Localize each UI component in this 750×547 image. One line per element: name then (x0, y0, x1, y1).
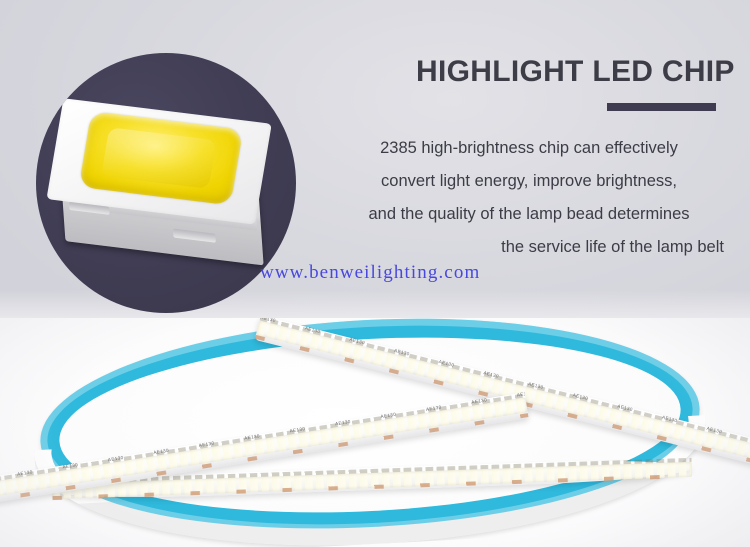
body-copy: 2385 high-brightness chip can effectivel… (334, 132, 724, 264)
body-line-1: 2385 high-brightness chip can effectivel… (334, 132, 724, 165)
page-title: HIGHLIGHT LED CHIP (416, 55, 736, 88)
led-strip-photo: AE130AE130AE130AE130AE130AE130AE130AE130… (0, 318, 750, 547)
body-line-3: and the quality of the lamp bead determi… (334, 198, 724, 231)
accent-rule (607, 103, 716, 111)
product-poster: HIGHLIGHT LED CHIP 2385 high-brightness … (0, 0, 750, 547)
watermark-url: www.benweilighting.com (260, 262, 480, 284)
body-line-2: convert light energy, improve brightness… (334, 165, 724, 198)
led-chip-inset (36, 53, 296, 313)
smd-led-package (52, 96, 279, 281)
chip-stage (36, 53, 296, 313)
phosphor-highlight (101, 127, 216, 189)
body-line-4: the service life of the lamp belt (334, 231, 724, 264)
